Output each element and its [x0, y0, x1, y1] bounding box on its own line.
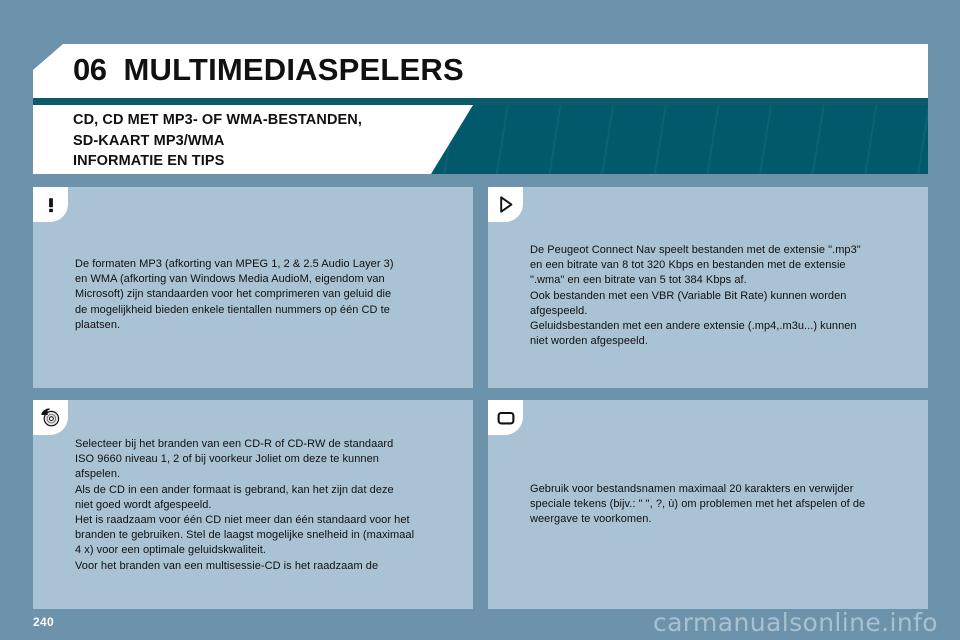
info-panel-playback: De Peugeot Connect Nav speelt bestanden …: [488, 187, 928, 388]
info-panel-formats: De formaten MP3 (afkorting van MPEG 1, 2…: [33, 187, 473, 388]
text-line: Voor het branden van een multisessie-CD …: [75, 559, 455, 574]
text-line: branden te gebruiken. Stel de laagst mog…: [75, 528, 455, 543]
text-line: afgespeeld.: [530, 304, 910, 319]
panel-body-text: De Peugeot Connect Nav speelt bestanden …: [530, 243, 910, 349]
text-line: Als de CD in een ander formaat is gebran…: [75, 483, 455, 498]
section-title-line: CD, CD MET MP3- OF WMA-BESTANDEN,: [73, 110, 473, 131]
page-number: 240: [33, 615, 54, 629]
chapter-number: 06: [73, 52, 106, 88]
panel-body-text: Selecteer bij het branden van een CD-R o…: [75, 437, 455, 574]
text-line: Selecteer bij het branden van een CD-R o…: [75, 437, 455, 452]
text-line: Gebruik voor bestandsnamen maximaal 20 k…: [530, 482, 910, 497]
text-line: Ook bestanden met een VBR (Variable Bit …: [530, 289, 910, 304]
page-title: MULTIMEDIASPELERS: [123, 52, 463, 88]
text-line: Het is raadzaam voor één CD niet meer da…: [75, 513, 455, 528]
site-watermark: carmanualsonline.info: [653, 608, 938, 637]
text-line: de mogelijkheid bieden enkele tientallen…: [75, 303, 455, 318]
cd-burn-icon: [33, 400, 68, 435]
text-line: Geluidsbestanden met een andere extensie…: [530, 319, 910, 334]
display-screen-icon: [488, 400, 523, 435]
section-banner: CD, CD MET MP3- OF WMA-BESTANDEN, SD-KAA…: [33, 105, 928, 174]
text-line: afspelen.: [75, 467, 455, 482]
section-title-line: SD-KAART MP3/WMA: [73, 131, 473, 152]
text-line: speciale tekens (bijv.: " ", ?, ù) om pr…: [530, 497, 910, 512]
exclamation-icon: [33, 187, 68, 222]
text-line: niet goed wordt afgespeeld.: [75, 498, 455, 513]
text-line: weergave te voorkomen.: [530, 512, 910, 527]
play-icon: [488, 187, 523, 222]
page-header: 06 MULTIMEDIASPELERS CD, CD MET MP3- OF …: [33, 44, 928, 174]
text-line: en een bitrate van 8 tot 320 Kbps en bes…: [530, 258, 910, 273]
text-line: ISO 9660 niveau 1, 2 of bij voorkeur Jol…: [75, 452, 455, 467]
text-line: De formaten MP3 (afkorting van MPEG 1, 2…: [75, 257, 455, 272]
info-panel-filenames: Gebruik voor bestandsnamen maximaal 20 k…: [488, 400, 928, 609]
text-line: 4 x) voor een optimale geluidskwaliteit.: [75, 543, 455, 558]
panel-body-text: Gebruik voor bestandsnamen maximaal 20 k…: [530, 482, 910, 528]
text-line: niet worden afgespeeld.: [530, 334, 910, 349]
text-line: ".wma" en een bitrate van 5 tot 384 Kbps…: [530, 273, 910, 288]
section-title-line: INFORMATIE EN TIPS: [73, 151, 473, 172]
text-line: Microsoft) zijn standaarden voor het com…: [75, 287, 455, 302]
text-line: plaatsen.: [75, 318, 455, 333]
section-title: CD, CD MET MP3- OF WMA-BESTANDEN, SD-KAA…: [73, 110, 473, 172]
text-line: De Peugeot Connect Nav speelt bestanden …: [530, 243, 910, 258]
title-divider: [33, 98, 928, 105]
text-line: en WMA (afkorting van Windows Media Audi…: [75, 272, 455, 287]
panel-body-text: De formaten MP3 (afkorting van MPEG 1, 2…: [75, 257, 455, 333]
info-panel-burning: Selecteer bij het branden van een CD-R o…: [33, 400, 473, 609]
chapter-title-row: 06 MULTIMEDIASPELERS: [73, 52, 464, 88]
